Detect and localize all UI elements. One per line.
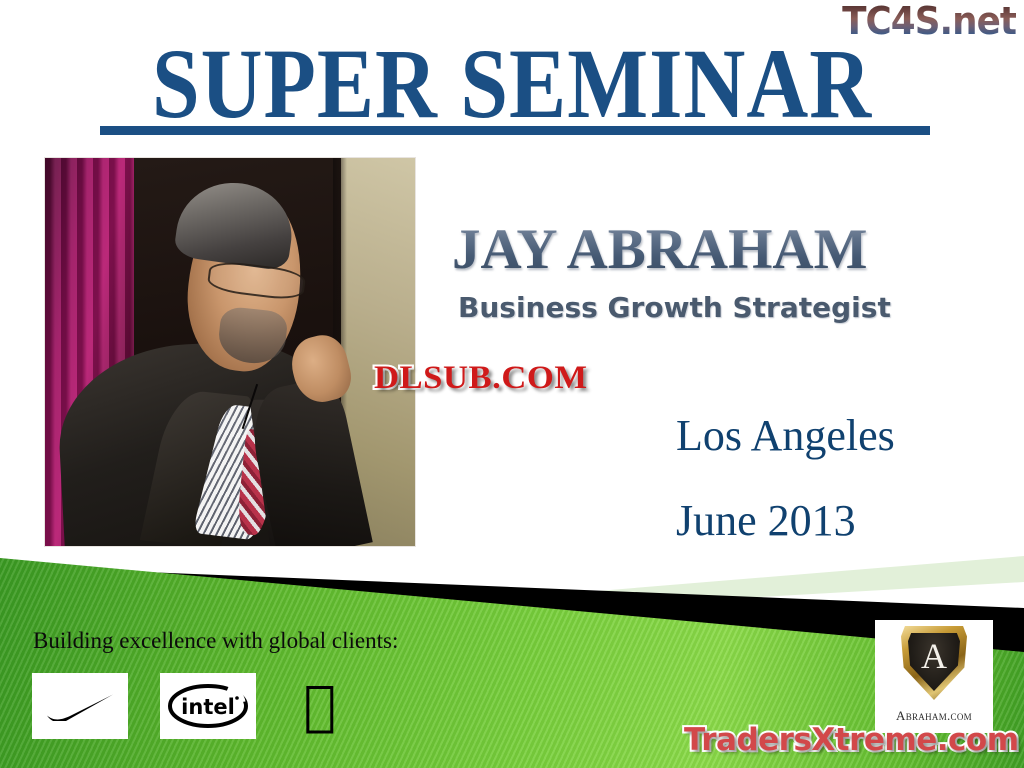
dlsub-watermark: DLSUB.COM: [374, 360, 588, 397]
svg-text:intel: intel: [181, 695, 235, 719]
speaker-role: Business Growth Strategist: [458, 291, 891, 324]
apple-logo: : [290, 673, 350, 739]
speaker-name: JAY ABRAHAM: [452, 221, 867, 278]
speaker-photo: [45, 158, 415, 546]
title-block: Super Seminar: [0, 38, 1024, 118]
abraham-brand-badge: A Abraham.com: [875, 620, 993, 733]
shield-letter: A: [901, 638, 967, 674]
page-title: Super Seminar: [152, 38, 872, 132]
intel-logo: intel: [160, 673, 256, 739]
nike-logo: [32, 673, 128, 739]
presentation-slide: TC4S.net Super Seminar JAY ABRAHAM Busin…: [0, 0, 1024, 768]
shield-icon: A: [901, 626, 967, 700]
title-underline-rule: [100, 126, 930, 135]
banner-caption: Building excellence with global clients:: [33, 628, 398, 654]
tradersxtreme-watermark: TradersXtreme.com: [684, 722, 1019, 758]
event-date: June 2013: [676, 495, 856, 546]
event-city: Los Angeles: [676, 410, 895, 461]
apple-glyph: : [304, 679, 336, 733]
